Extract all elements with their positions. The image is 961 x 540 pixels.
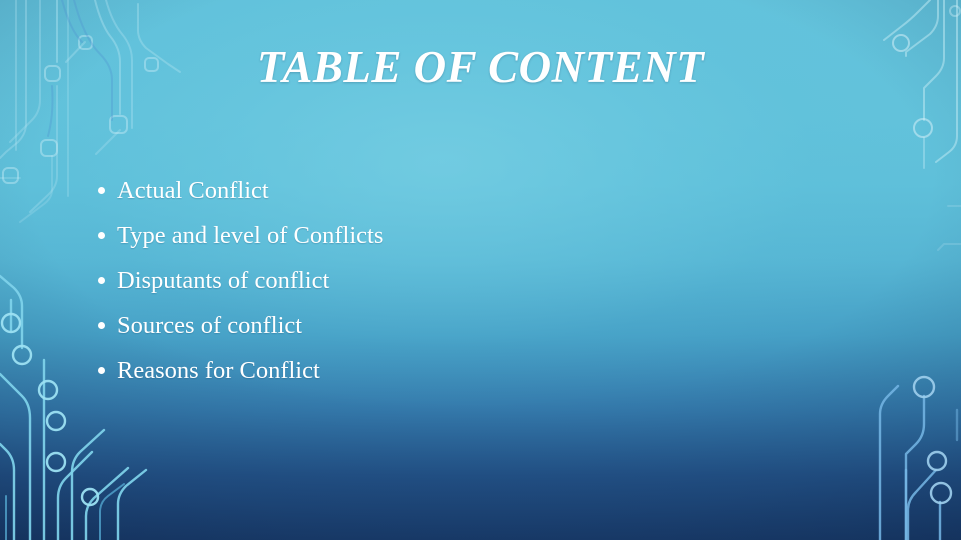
bullet-dot-icon — [98, 187, 105, 194]
list-item-label: Reasons for Conflict — [117, 357, 320, 384]
list-item: Sources of conflict — [96, 313, 383, 338]
list-item-label: Sources of conflict — [117, 312, 302, 339]
list-item: Actual Conflict — [96, 178, 383, 203]
list-item: Reasons for Conflict — [96, 358, 383, 383]
bullet-dot-icon — [98, 322, 105, 329]
bullet-dot-icon — [98, 232, 105, 239]
bullet-dot-icon — [98, 367, 105, 374]
list-item: Disputants of conflict — [96, 268, 383, 293]
page-title: TABLE OF CONTENT — [0, 44, 961, 91]
presentation-slide: TABLE OF CONTENT Actual Conflict Type an… — [0, 0, 961, 540]
table-of-contents-list: Actual Conflict Type and level of Confli… — [96, 178, 383, 403]
slide-content: TABLE OF CONTENT Actual Conflict Type an… — [0, 0, 961, 540]
bullet-dot-icon — [98, 277, 105, 284]
list-item: Type and level of Conflicts — [96, 223, 383, 248]
list-item-label: Type and level of Conflicts — [117, 222, 383, 249]
list-item-label: Actual Conflict — [117, 177, 269, 204]
list-item-label: Disputants of conflict — [117, 267, 329, 294]
